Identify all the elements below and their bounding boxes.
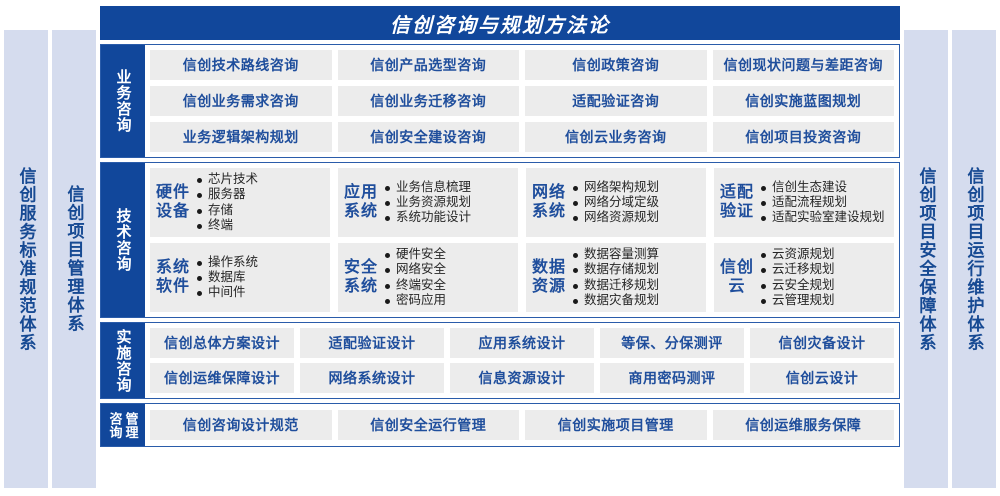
section-body-implementation: 信创总体方案设计 适配验证设计 应用系统设计 等保、分保测评 信创灾备设计 信创…: [145, 323, 899, 398]
row: 信创运维保障设计 网络系统设计 信息资源设计 商用密码测评 信创云设计: [150, 363, 894, 393]
chip-item[interactable]: 网络系统设计: [300, 363, 444, 393]
card-list: 数据容量测算 数据存储规划 数据迁移规划 数据灾备规划: [572, 247, 700, 308]
chip-item[interactable]: 信创项目投资咨询: [713, 122, 895, 152]
list-item: 业务信息梳理: [384, 180, 512, 195]
card-title: 网络 系统: [532, 184, 566, 221]
card-title: 信创 云: [720, 259, 754, 296]
chip-item[interactable]: 信创咨询设计规范: [150, 410, 332, 440]
pillar-project-operations-system: 信创项目运行维护体系: [952, 30, 996, 488]
card-list: 硬件安全 网络安全 终端安全 密码应用: [384, 247, 512, 308]
section-body-business: 信创技术路线咨询 信创产品选型咨询 信创政策咨询 信创现状问题与差距咨询 信创业…: [145, 45, 899, 157]
list-item: 云管理规划: [760, 293, 888, 308]
section-label-technical: 技术咨询: [101, 163, 145, 317]
card-title: 应用 系统: [344, 184, 378, 221]
card-title: 数据 资源: [532, 259, 566, 296]
diagram-root: 信创服务标准规范体系 信创项目管理体系 信创咨询与规划方法论 业务咨询 信创技术…: [0, 0, 1000, 496]
list-item: 系统功能设计: [384, 210, 512, 225]
chip-item[interactable]: 信创云设计: [750, 363, 894, 393]
list-item: 中间件: [196, 285, 324, 300]
card-list: 网络架构规划 网络分域定级 网络资源规划: [572, 180, 700, 226]
pillar-project-management-system: 信创项目管理体系: [52, 30, 96, 488]
list-item: 服务器: [196, 187, 324, 202]
tech-card-hardware[interactable]: 硬件 设备 芯片技术 服务器 存储 终端: [150, 168, 330, 237]
list-item: 数据迁移规划: [572, 278, 700, 293]
tech-card-system-software[interactable]: 系统 软件 操作系统 数据库 中间件: [150, 243, 330, 312]
list-item: 密码应用: [384, 293, 512, 308]
card-title: 安全 系统: [344, 259, 378, 296]
tech-card-data-resource[interactable]: 数据 资源 数据容量测算 数据存储规划 数据迁移规划 数据灾备规划: [526, 243, 706, 312]
chip-item[interactable]: 信创总体方案设计: [150, 328, 294, 358]
chip-item[interactable]: 信创运维服务保障: [713, 410, 895, 440]
chip-item[interactable]: 信创云业务咨询: [525, 122, 707, 152]
chip-item[interactable]: 业务逻辑架构规划: [150, 122, 332, 152]
list-item: 云迁移规划: [760, 262, 888, 277]
center-column: 信创咨询与规划方法论 业务咨询 信创技术路线咨询 信创产品选型咨询 信创政策咨询…: [100, 6, 900, 492]
chip-item[interactable]: 信创灾备设计: [750, 328, 894, 358]
chip-item[interactable]: 信息资源设计: [450, 363, 594, 393]
row: 业务逻辑架构规划 信创安全建设咨询 信创云业务咨询 信创项目投资咨询: [150, 122, 894, 152]
section-label-text: 技术咨询: [116, 208, 131, 272]
chip-item[interactable]: 信创现状问题与差距咨询: [713, 50, 895, 80]
section-body-technical: 硬件 设备 芯片技术 服务器 存储 终端 应用 系统 业务信息梳理 业务资源规划: [145, 163, 899, 317]
pillar-service-standard-system: 信创服务标准规范体系: [4, 30, 48, 488]
list-item: 信创生态建设: [760, 180, 888, 195]
list-item: 网络分域定级: [572, 195, 700, 210]
list-item: 数据库: [196, 270, 324, 285]
pillar-label: 信创项目安全保障体系: [918, 167, 935, 352]
tech-card-cloud[interactable]: 信创 云 云资源规划 云迁移规划 云安全规划 云管理规划: [714, 243, 894, 312]
chip-item[interactable]: 适配验证设计: [300, 328, 444, 358]
chip-item[interactable]: 信创实施项目管理: [525, 410, 707, 440]
chip-item[interactable]: 应用系统设计: [450, 328, 594, 358]
chip-item[interactable]: 信创安全建设咨询: [338, 122, 520, 152]
chip-item[interactable]: 商用密码测评: [600, 363, 744, 393]
card-title: 硬件 设备: [156, 184, 190, 221]
list-item: 终端: [196, 218, 324, 233]
list-item: 网络架构规划: [572, 180, 700, 195]
card-list: 云资源规划 云迁移规划 云安全规划 云管理规划: [760, 247, 888, 308]
chip-item[interactable]: 信创安全运行管理: [338, 410, 520, 440]
tech-card-security[interactable]: 安全 系统 硬件安全 网络安全 终端安全 密码应用: [338, 243, 518, 312]
section-consulting-management: 咨询 管理 信创咨询设计规范 信创安全运行管理 信创实施项目管理 信创运维服务保…: [100, 403, 900, 447]
chip-item[interactable]: 信创技术路线咨询: [150, 50, 332, 80]
list-item: 业务资源规划: [384, 195, 512, 210]
page-title: 信创咨询与规划方法论: [100, 6, 900, 40]
card-list: 芯片技术 服务器 存储 终端: [196, 172, 324, 233]
tech-card-network[interactable]: 网络 系统 网络架构规划 网络分域定级 网络资源规划: [526, 168, 706, 237]
section-label-text: 业务咨询: [116, 69, 131, 133]
row: 信创业务需求咨询 信创业务迁移咨询 适配验证咨询 信创实施蓝图规划: [150, 86, 894, 116]
list-item: 适配流程规划: [760, 195, 888, 210]
row: 硬件 设备 芯片技术 服务器 存储 终端 应用 系统 业务信息梳理 业务资源规划: [150, 168, 894, 237]
list-item: 终端安全: [384, 278, 512, 293]
card-list: 操作系统 数据库 中间件: [196, 255, 324, 301]
list-item: 云资源规划: [760, 247, 888, 262]
section-label-management: 咨询 管理: [101, 404, 145, 446]
tech-card-adaptation[interactable]: 适配 验证 信创生态建设 适配流程规划 适配实验室建设规划: [714, 168, 894, 237]
section-business-consulting: 业务咨询 信创技术路线咨询 信创产品选型咨询 信创政策咨询 信创现状问题与差距咨…: [100, 44, 900, 158]
section-label-text: 实施咨询: [116, 329, 131, 393]
tech-card-application[interactable]: 应用 系统 业务信息梳理 业务资源规划 系统功能设计: [338, 168, 518, 237]
list-item: 芯片技术: [196, 172, 324, 187]
section-label-text-col1: 咨询: [109, 412, 122, 439]
chip-item[interactable]: 适配验证咨询: [525, 86, 707, 116]
row: 信创技术路线咨询 信创产品选型咨询 信创政策咨询 信创现状问题与差距咨询: [150, 50, 894, 80]
list-item: 云安全规划: [760, 278, 888, 293]
section-label-text-col2: 管理: [125, 412, 138, 439]
chip-item[interactable]: 信创运维保障设计: [150, 363, 294, 393]
card-title: 系统 软件: [156, 259, 190, 296]
pillar-label: 信创项目管理体系: [66, 185, 83, 333]
row: 系统 软件 操作系统 数据库 中间件 安全 系统 硬件安全 网络安全 终端安全: [150, 243, 894, 312]
list-item: 数据存储规划: [572, 262, 700, 277]
section-body-management: 信创咨询设计规范 信创安全运行管理 信创实施项目管理 信创运维服务保障: [145, 404, 899, 446]
list-item: 操作系统: [196, 255, 324, 270]
list-item: 数据容量测算: [572, 247, 700, 262]
list-item: 硬件安全: [384, 247, 512, 262]
chip-item[interactable]: 信创政策咨询: [525, 50, 707, 80]
card-list: 业务信息梳理 业务资源规划 系统功能设计: [384, 180, 512, 226]
list-item: 网络资源规划: [572, 210, 700, 225]
card-title: 适配 验证: [720, 184, 754, 221]
list-item: 数据灾备规划: [572, 293, 700, 308]
list-item: 适配实验室建设规划: [760, 210, 888, 225]
section-technical-consulting: 技术咨询 硬件 设备 芯片技术 服务器 存储 终端 应用 系统: [100, 162, 900, 318]
row: 信创咨询设计规范 信创安全运行管理 信创实施项目管理 信创运维服务保障: [150, 410, 894, 440]
chip-item[interactable]: 信创产品选型咨询: [338, 50, 520, 80]
card-list: 信创生态建设 适配流程规划 适配实验室建设规划: [760, 180, 888, 226]
pillar-label: 信创服务标准规范体系: [18, 167, 35, 352]
chip-item[interactable]: 信创业务迁移咨询: [338, 86, 520, 116]
section-label-business: 业务咨询: [101, 45, 145, 157]
section-label-implementation: 实施咨询: [101, 323, 145, 398]
row: 信创总体方案设计 适配验证设计 应用系统设计 等保、分保测评 信创灾备设计: [150, 328, 894, 358]
chip-item[interactable]: 信创业务需求咨询: [150, 86, 332, 116]
list-item: 网络安全: [384, 262, 512, 277]
section-implementation-consulting: 实施咨询 信创总体方案设计 适配验证设计 应用系统设计 等保、分保测评 信创灾备…: [100, 322, 900, 399]
pillar-project-security-system: 信创项目安全保障体系: [904, 30, 948, 488]
list-item: 存储: [196, 203, 324, 218]
chip-item[interactable]: 等保、分保测评: [600, 328, 744, 358]
chip-item[interactable]: 信创实施蓝图规划: [713, 86, 895, 116]
pillar-label: 信创项目运行维护体系: [966, 167, 983, 352]
